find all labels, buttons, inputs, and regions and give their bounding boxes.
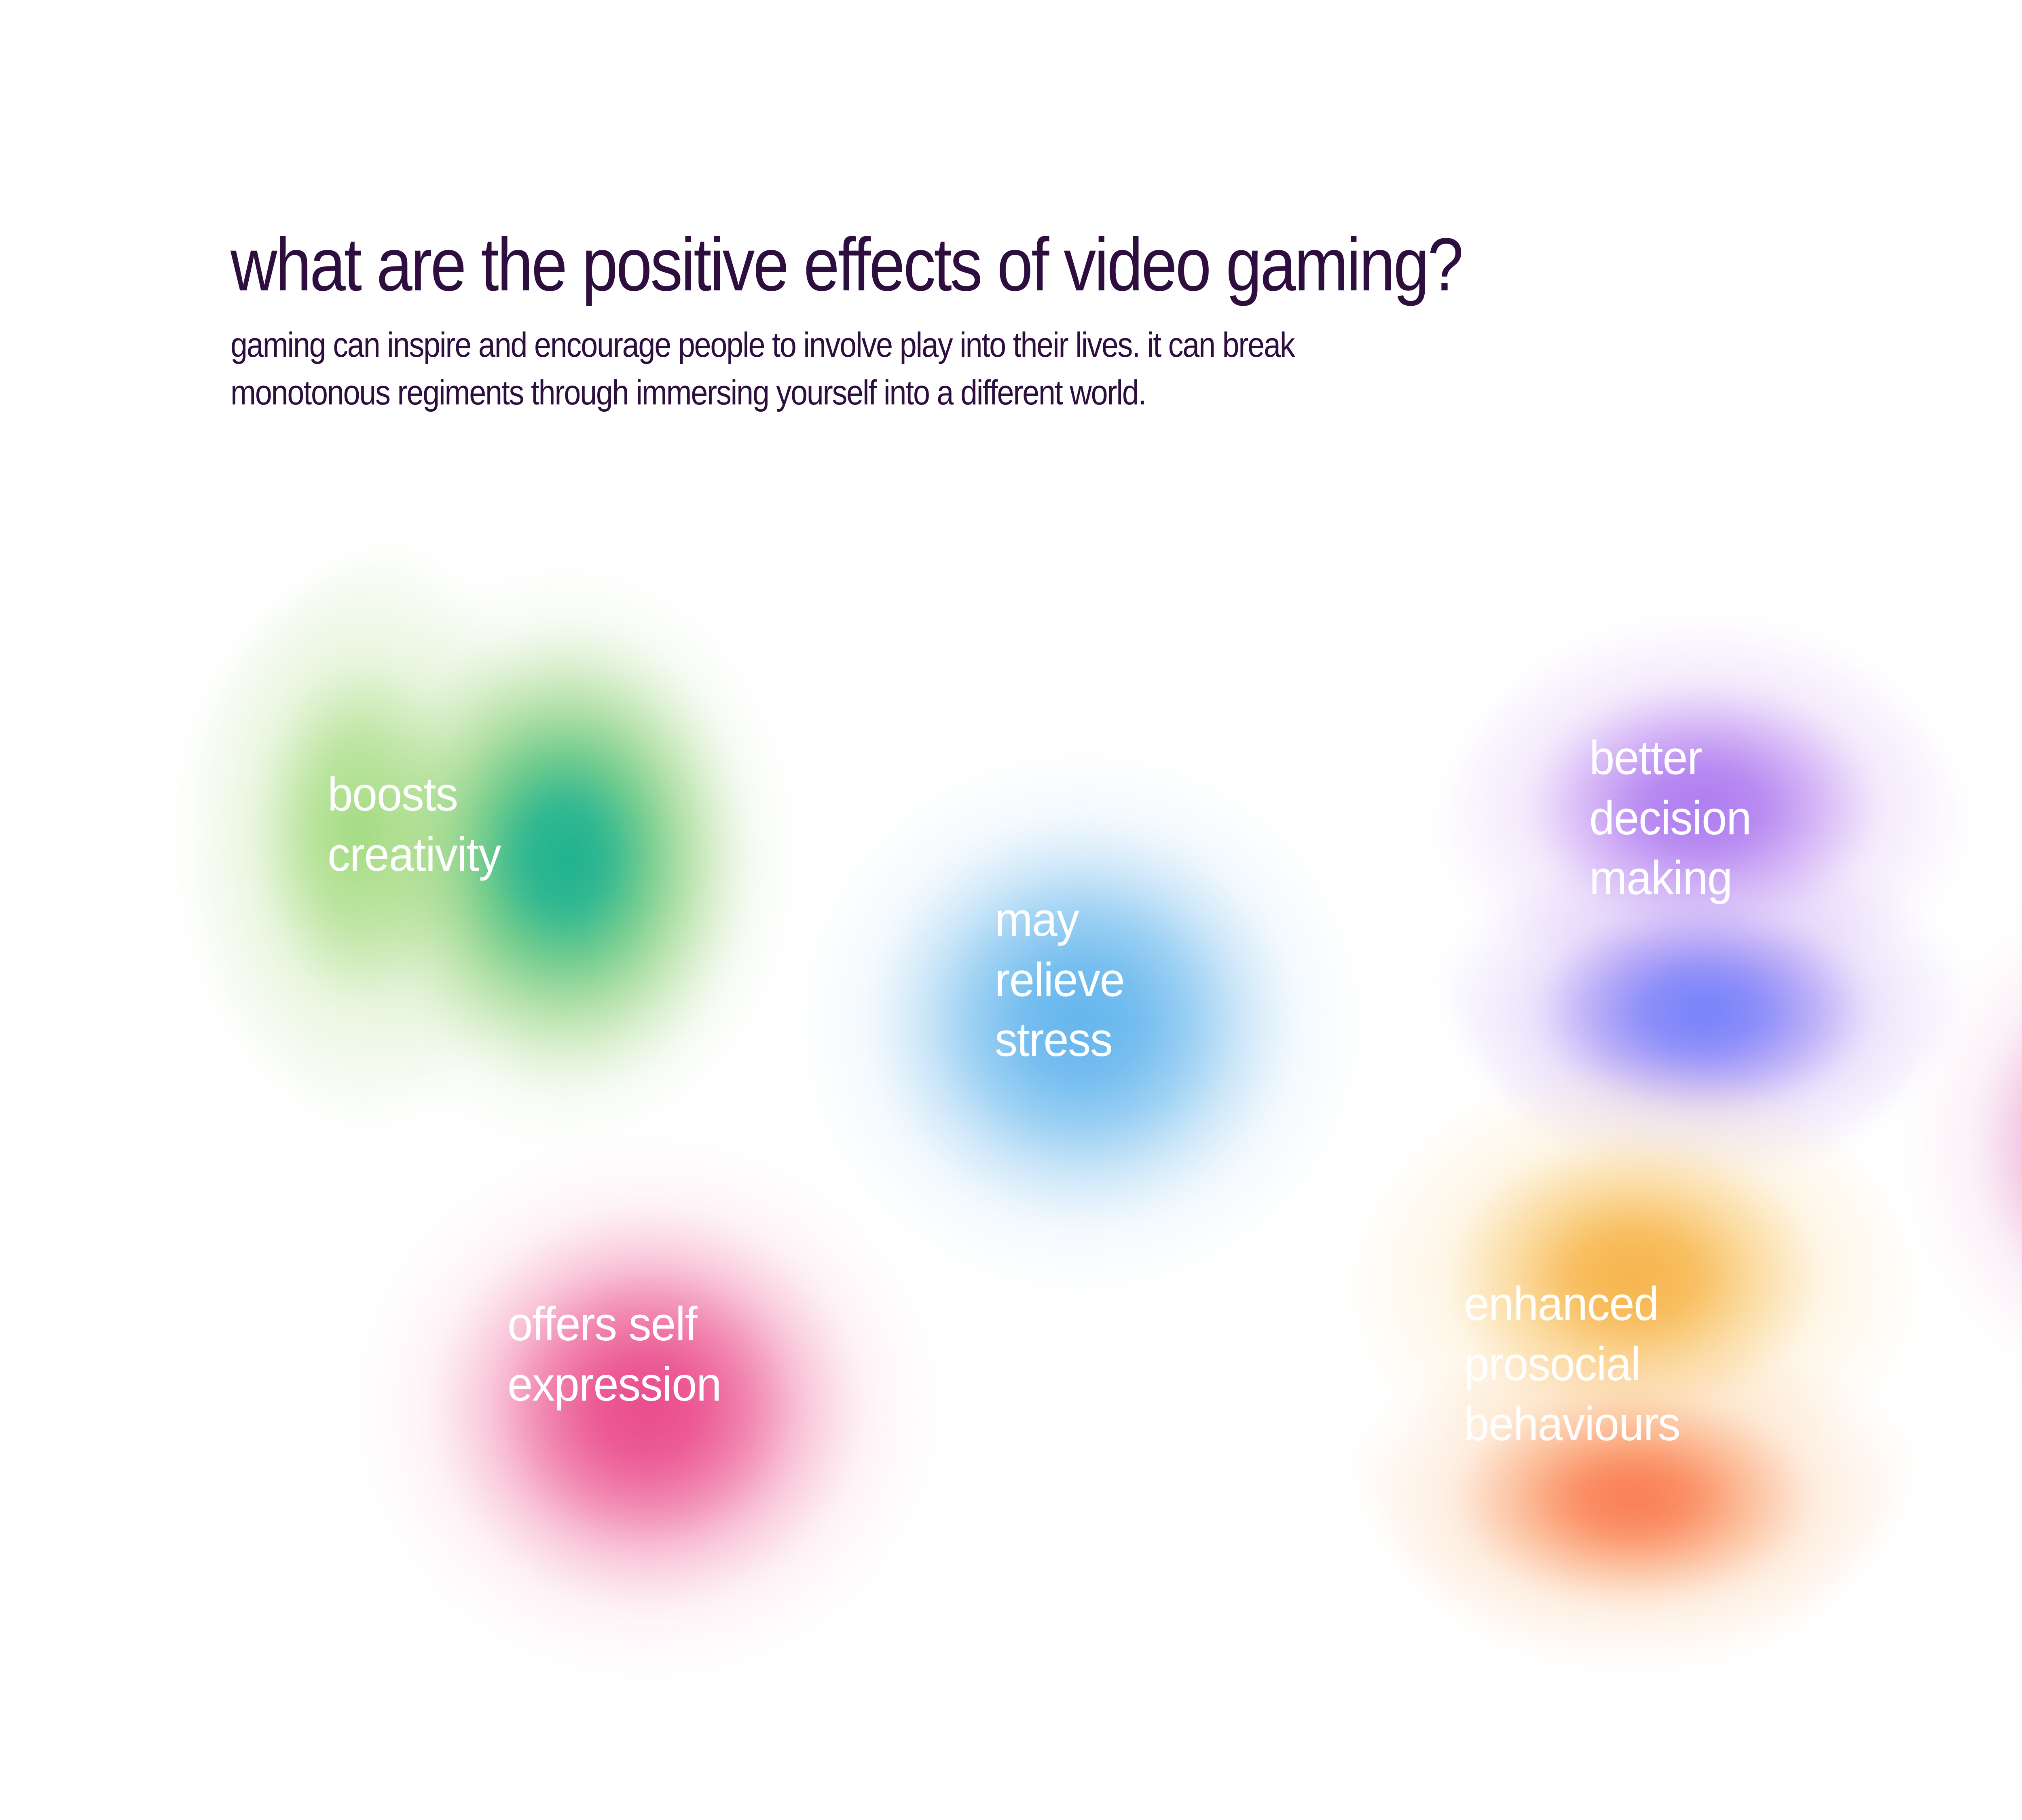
blob-label-enhanced-prosocial-behaviours: enhanced prosocial behaviours (1464, 1274, 1680, 1454)
blob-label-better-decision-making: better decision making (1589, 728, 1751, 908)
page-subtitle: gaming can inspire and encourage people … (231, 321, 1903, 417)
page-title: what are the positive effects of video g… (231, 226, 2022, 303)
header: what are the positive effects of video g… (231, 226, 2022, 417)
subtitle-line-1: gaming can inspire and encourage people … (231, 321, 1903, 369)
blob-label-may-relieve-stress: may relieve stress (995, 890, 1124, 1070)
blob-label-offers-self-expression: offers self expression (508, 1294, 721, 1414)
poster-canvas: what are the positive effects of video g… (0, 0, 2022, 1820)
blob-label-boosts-creativity: boosts creativity (328, 764, 501, 885)
subtitle-line-2: monotonous regiments through immersing y… (231, 369, 1903, 417)
